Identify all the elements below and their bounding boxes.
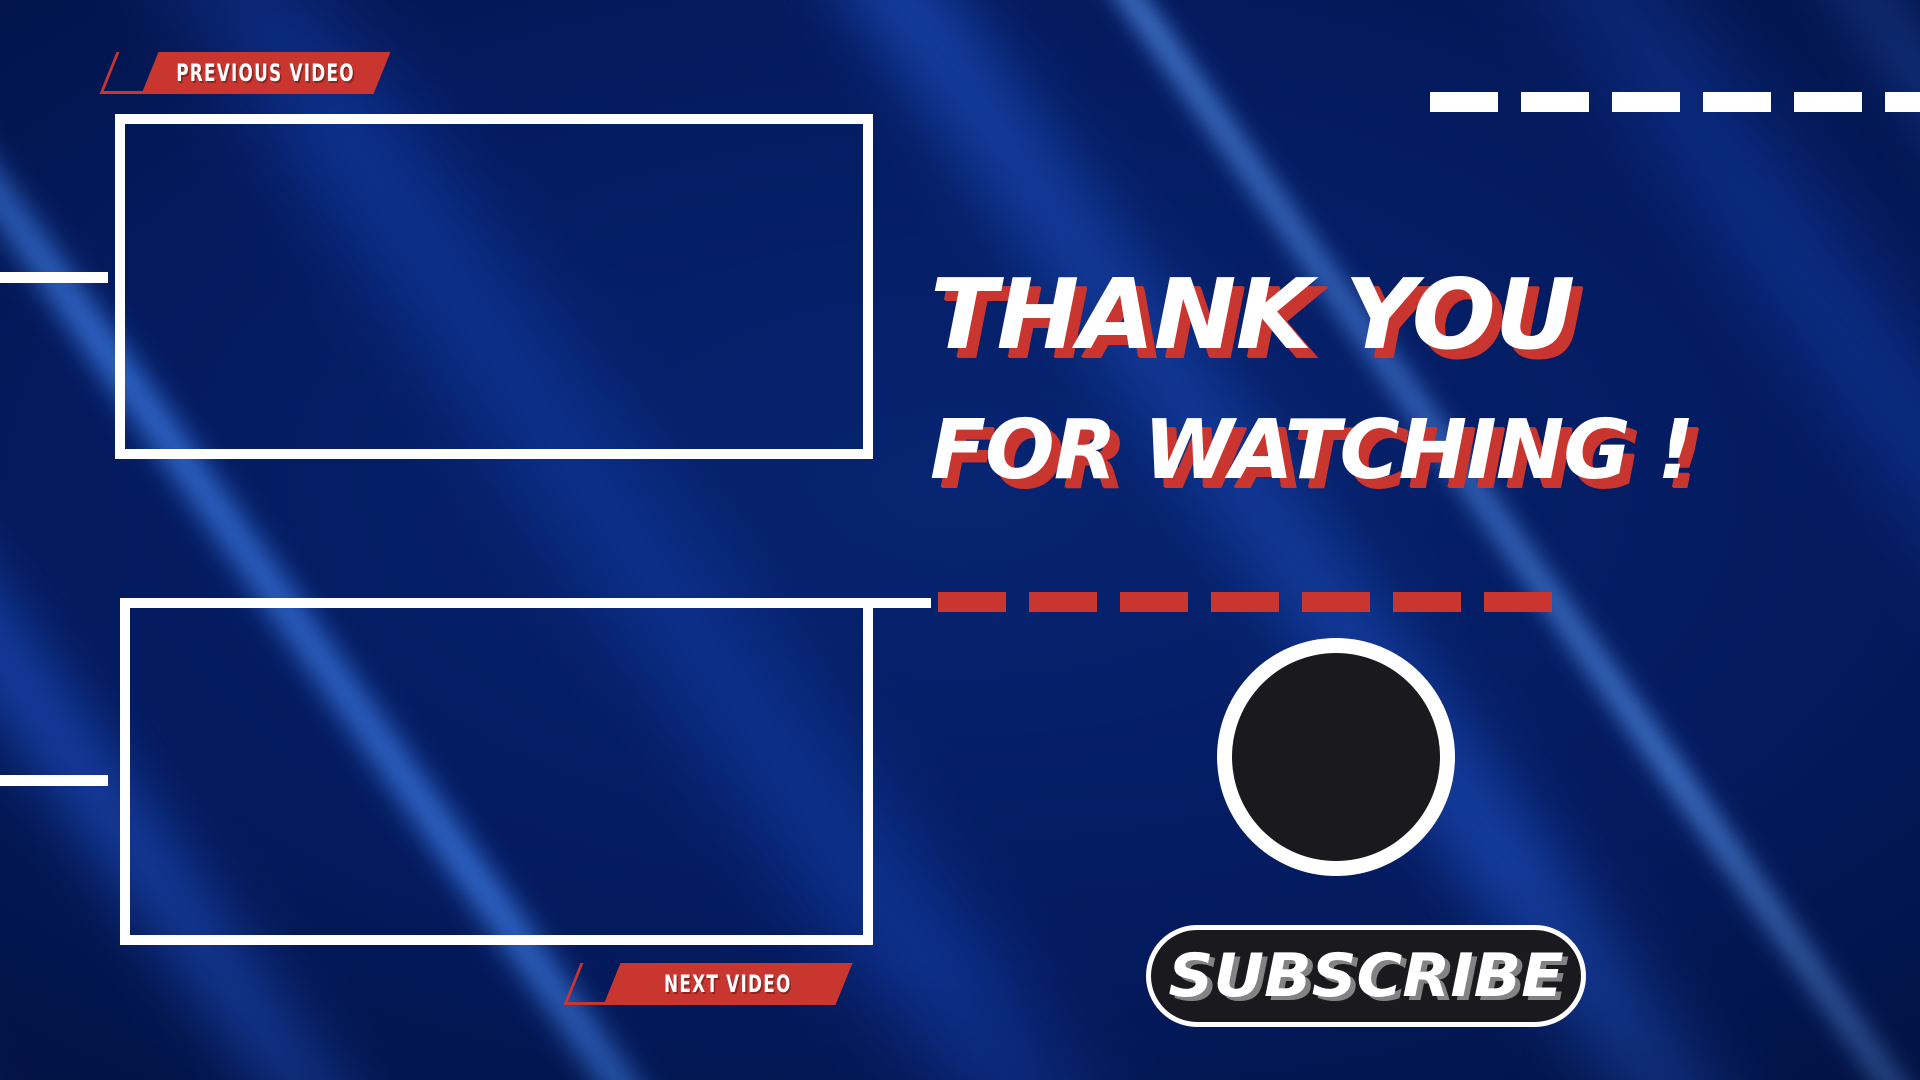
headline-block: THANK YOU FOR WATCHING ! (930, 258, 1850, 498)
dash-segment (938, 592, 1006, 612)
dash-segment (1430, 92, 1498, 112)
dash-segment (1612, 92, 1680, 112)
dash-segment (1794, 92, 1862, 112)
channel-avatar[interactable] (1232, 653, 1440, 861)
previous-video-thumbnail-frame[interactable] (115, 114, 873, 459)
headline-line-2: FOR WATCHING ! (930, 403, 1850, 498)
red-dashed-rule (938, 592, 1552, 612)
next-video-badge[interactable]: NEXT VIDEO (604, 963, 853, 1005)
previous-video-badge[interactable]: PREVIOUS VIDEO (142, 52, 391, 94)
dash-segment (1885, 92, 1920, 112)
dash-segment (1484, 592, 1552, 612)
dash-segment (1302, 592, 1370, 612)
next-video-thumbnail-frame[interactable] (120, 598, 873, 945)
subscribe-button[interactable]: SUBSCRIBE (1146, 925, 1586, 1027)
dash-segment (1029, 592, 1097, 612)
next-video-connector-line (0, 775, 108, 786)
dash-segment (1703, 92, 1771, 112)
next-video-badge-label: NEXT VIDEO (664, 970, 792, 998)
previous-video-connector-line (0, 272, 108, 283)
dash-segment (1120, 592, 1188, 612)
dash-segment (1393, 592, 1461, 612)
next-video-frame-extension (873, 598, 931, 608)
headline-line-1: THANK YOU (930, 258, 1868, 371)
white-dashed-rule (1430, 92, 1920, 112)
subscribe-button-label: SUBSCRIBE (1168, 941, 1563, 1011)
previous-video-badge-label: PREVIOUS VIDEO (177, 59, 356, 87)
dash-segment (1211, 592, 1279, 612)
end-screen-canvas: PREVIOUS VIDEO NEXT VIDEO THANK YOU FOR … (0, 0, 1920, 1080)
dash-segment (1521, 92, 1589, 112)
